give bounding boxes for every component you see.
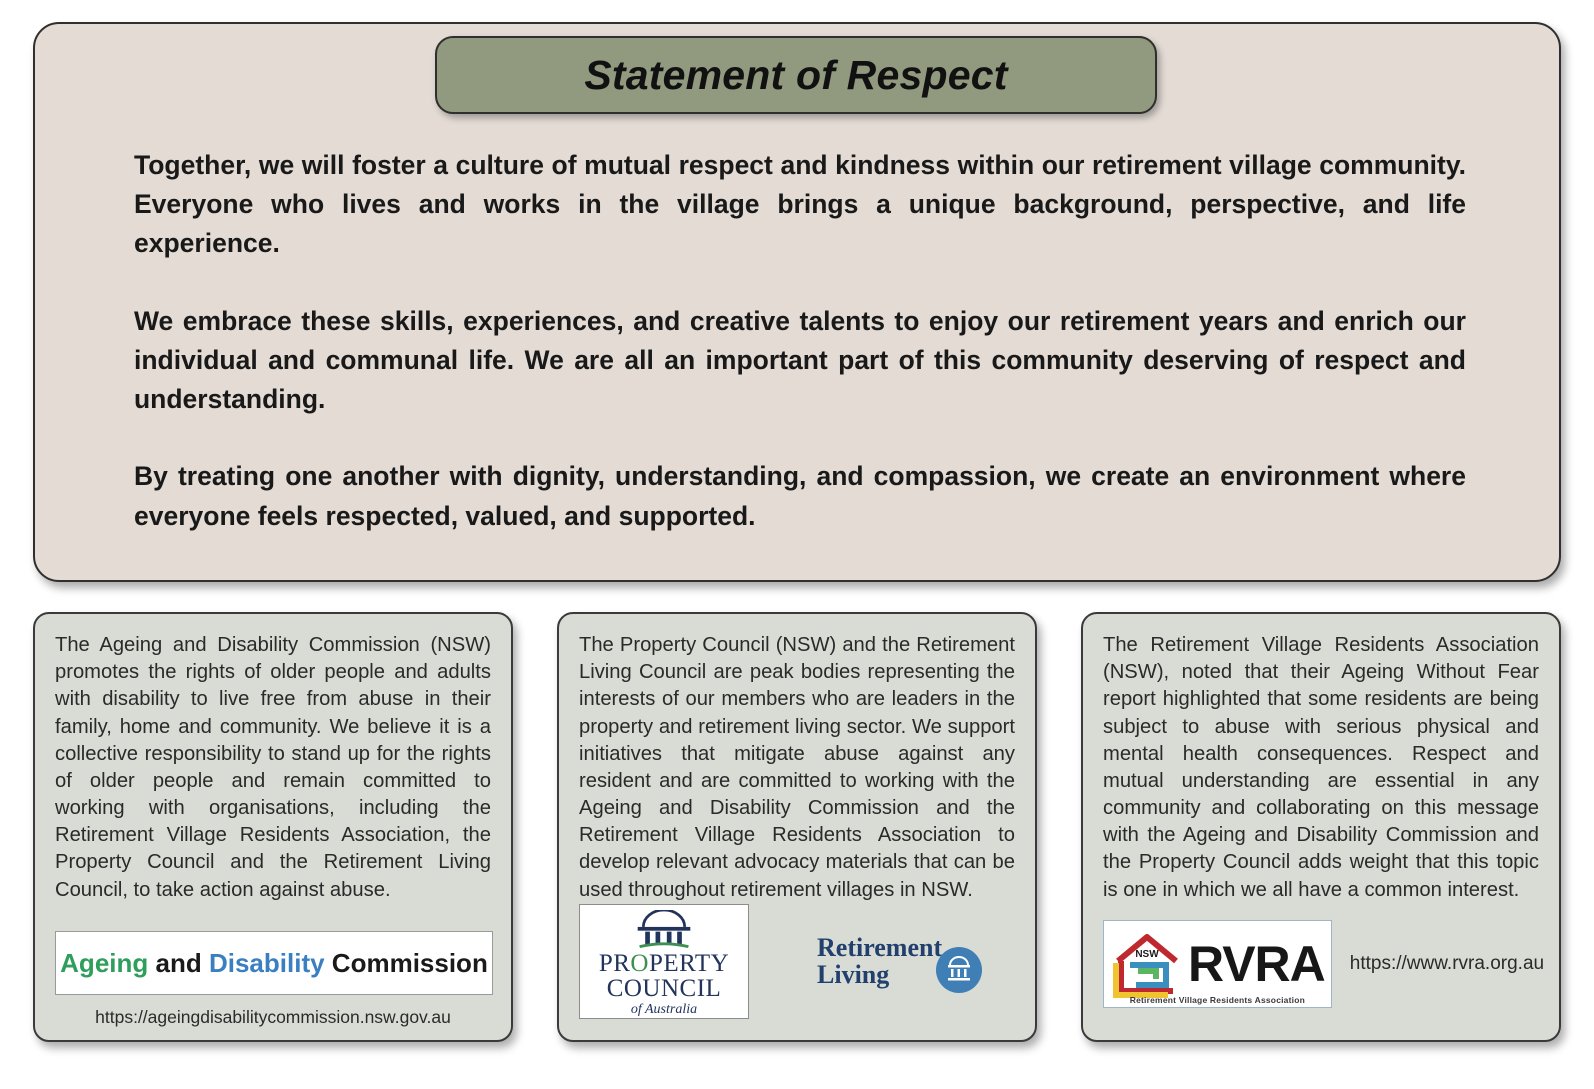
property-council-line-3: of Australia (631, 1002, 697, 1017)
partner-cards: The Ageing and Disability Commission (NS… (33, 612, 1561, 1052)
adc-logo-word-ageing: Ageing (60, 948, 148, 978)
ageing-and-disability-commission-logo: Ageing and Disability Commission (55, 931, 493, 995)
title-pill: Statement of Respect (435, 36, 1157, 114)
card-rvra: The Retirement Village Residents Associa… (1081, 612, 1561, 1042)
retirement-living-line-1: Retirement (817, 934, 942, 962)
property-council-of-australia-logo: PROPERTY COUNCIL of Australia (579, 904, 749, 1019)
statement-of-respect-poster: Statement of Respect Together, we will f… (0, 0, 1594, 1089)
property-council-line-1: PROPERTY (599, 951, 729, 976)
hero-paragraph-3: By treating one another with dignity, un… (134, 457, 1466, 535)
rvra-website-url[interactable]: https://www.rvra.org.au (1350, 953, 1544, 975)
retirement-living-temple-icon (936, 947, 982, 993)
card-logo-area: NSW RVRA Retirement Village Residents As… (1103, 920, 1539, 1008)
card-body-text: The Property Council (NSW) and the Retir… (579, 632, 1015, 904)
card-ageing-disability-commission: The Ageing and Disability Commission (NS… (33, 612, 513, 1042)
card-logo-area: PROPERTY COUNCIL of Australia Retirement… (579, 904, 1015, 1019)
rvra-logo: NSW RVRA Retirement Village Residents As… (1103, 920, 1332, 1008)
retirement-living-line-2: Living (817, 961, 942, 989)
hero-paragraph-2: We embrace these skills, experiences, an… (134, 302, 1466, 420)
hero-body: Together, we will foster a culture of mu… (134, 146, 1466, 536)
adc-logo-word-disability: Disability (209, 948, 325, 978)
hero-paragraph-1: Together, we will foster a culture of mu… (134, 146, 1466, 264)
property-council-temple-icon (622, 910, 706, 951)
card-property-council: The Property Council (NSW) and the Retir… (557, 612, 1037, 1042)
rvra-house-icon: NSW (1110, 927, 1184, 1001)
page-title: Statement of Respect (584, 52, 1007, 99)
card-body-text: The Ageing and Disability Commission (NS… (55, 632, 491, 904)
rvra-nsw-badge-text: NSW (1135, 949, 1159, 960)
adc-logo-word-and: and (156, 948, 202, 978)
adc-website-url[interactable]: https://ageingdisabilitycommission.nsw.g… (55, 1007, 491, 1028)
rvra-wordmark: RVRA (1188, 939, 1325, 989)
property-council-line-2: COUNCIL (607, 976, 722, 1002)
hero-panel: Statement of Respect Together, we will f… (33, 22, 1561, 582)
retirement-living-logo: Retirement Living (817, 929, 982, 993)
card-body-text: The Retirement Village Residents Associa… (1103, 632, 1539, 904)
card-logo-area: Ageing and Disability Commission https:/… (55, 931, 491, 1028)
rvra-caption: Retirement Village Residents Association (1104, 995, 1331, 1005)
adc-logo-word-commission: Commission (332, 948, 488, 978)
